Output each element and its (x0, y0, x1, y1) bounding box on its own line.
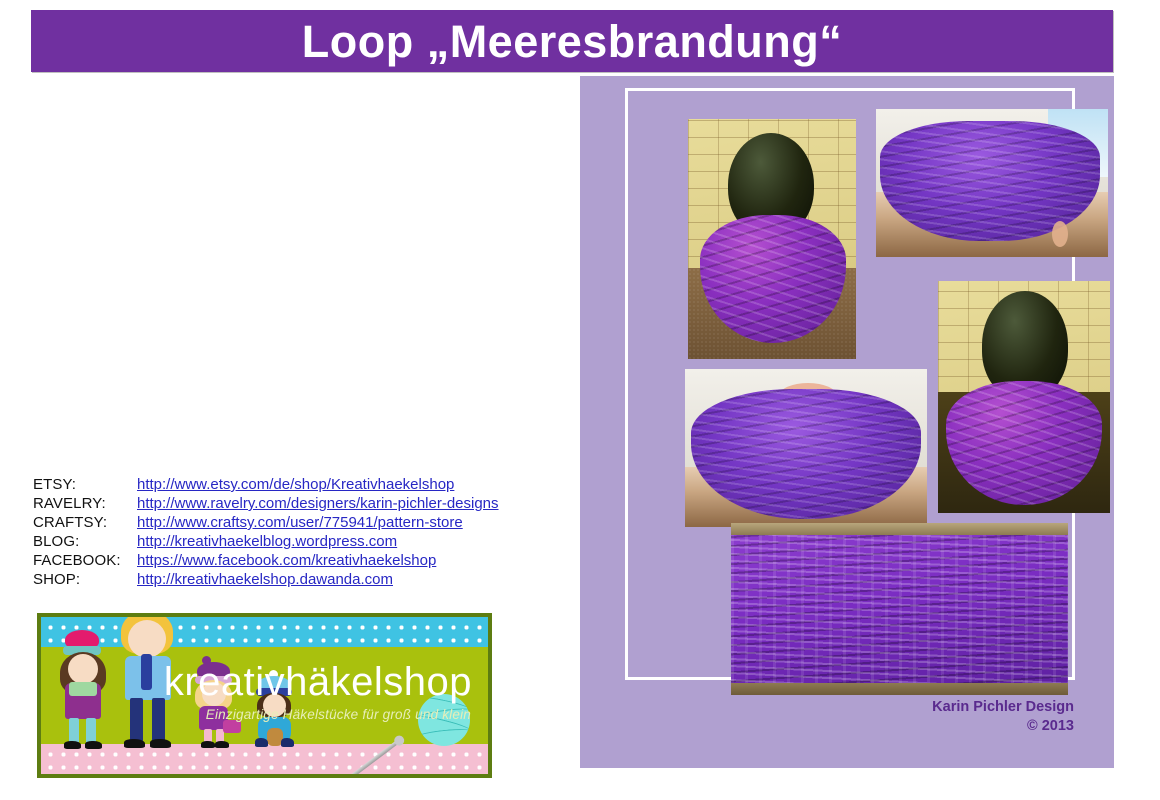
link-label-etsy: ETSY: (33, 476, 137, 493)
link-row-shop: SHOP: http://kreativhaekelshop.dawanda.c… (33, 571, 563, 590)
page-title: Loop „Meeresbrandung“ (302, 19, 843, 64)
swatch-top-edge (731, 523, 1068, 535)
link-row-ravelry: RAVELRY: http://www.ravelry.com/designer… (33, 495, 563, 514)
kreativhaekelshop-logo[interactable]: kreativhäkelshop Einzigartige Häkelstück… (37, 613, 492, 778)
copyright-line: © 2013 (932, 717, 1074, 736)
title-banner: Loop „Meeresbrandung“ (31, 10, 1113, 72)
girl-shoe-left (201, 741, 215, 748)
photo-mannequin-front-purple-cowl (938, 281, 1110, 513)
father-head (128, 620, 166, 658)
photo-cowl-worn-closeup (685, 369, 927, 527)
girl-shoe-right (215, 741, 229, 748)
link-url-craftsy[interactable]: http://www.craftsy.com/user/775941/patte… (137, 514, 463, 531)
logo-tagline: Einzigartige Häkelstücke für groß und kl… (206, 707, 471, 722)
father-legs-right (152, 698, 165, 742)
link-label-shop: SHOP: (33, 571, 137, 588)
logo-figure-mother (57, 630, 109, 748)
photo-collage-frame (625, 88, 1075, 680)
father-legs-left (130, 698, 143, 742)
fingers (1052, 221, 1068, 247)
father-shoe-left (124, 739, 145, 748)
crochet-stitch-swatch (731, 523, 1068, 695)
link-url-ravelry[interactable]: http://www.ravelry.com/designers/karin-p… (137, 495, 499, 512)
link-row-blog: BLOG: http://kreativhaekelblog.wordpress… (33, 533, 563, 552)
shop-links-list: ETSY: http://www.etsy.com/de/shop/Kreati… (33, 476, 563, 590)
mother-shoe-right (85, 741, 102, 749)
link-label-facebook: FACEBOOK: (33, 552, 137, 569)
boy-shoe-right (281, 738, 294, 747)
father-shoe-right (150, 739, 171, 748)
photo-cowl-held-in-hands (876, 109, 1108, 257)
father-scarf (141, 654, 152, 690)
photo-collage-panel: Karin Pichler Design © 2013 (580, 76, 1114, 768)
mother-shoe-left (64, 741, 81, 749)
swatch-bottom-edge (731, 683, 1068, 695)
link-url-facebook[interactable]: https://www.facebook.com/kreativhaekelsh… (137, 552, 436, 569)
link-url-blog[interactable]: http://kreativhaekelblog.wordpress.com (137, 533, 397, 550)
photo-stitch-swatch-flat (731, 523, 1068, 695)
logo-bottom-dots-stripe (41, 744, 488, 774)
photo-mannequin-profile-purple-cowl (688, 119, 856, 359)
designer-credit: Karin Pichler Design © 2013 (932, 698, 1074, 736)
mother-scarf (69, 682, 97, 696)
purple-crochet-cowl (880, 121, 1100, 241)
link-row-facebook: FACEBOOK: https://www.facebook.com/kreat… (33, 552, 563, 571)
logo-brand-name: kreativhäkelshop (164, 662, 472, 702)
link-url-etsy[interactable]: http://www.etsy.com/de/shop/Kreativhaeke… (137, 476, 454, 493)
designer-name: Karin Pichler Design (932, 698, 1074, 717)
link-label-ravelry: RAVELRY: (33, 495, 137, 512)
link-row-etsy: ETSY: http://www.etsy.com/de/shop/Kreati… (33, 476, 563, 495)
link-row-craftsy: CRAFTSY: http://www.craftsy.com/user/775… (33, 514, 563, 533)
boy-shoe-left (255, 738, 268, 747)
link-url-shop[interactable]: http://kreativhaekelshop.dawanda.com (137, 571, 393, 588)
mother-head (68, 654, 98, 684)
link-label-craftsy: CRAFTSY: (33, 514, 137, 531)
link-label-blog: BLOG: (33, 533, 137, 550)
